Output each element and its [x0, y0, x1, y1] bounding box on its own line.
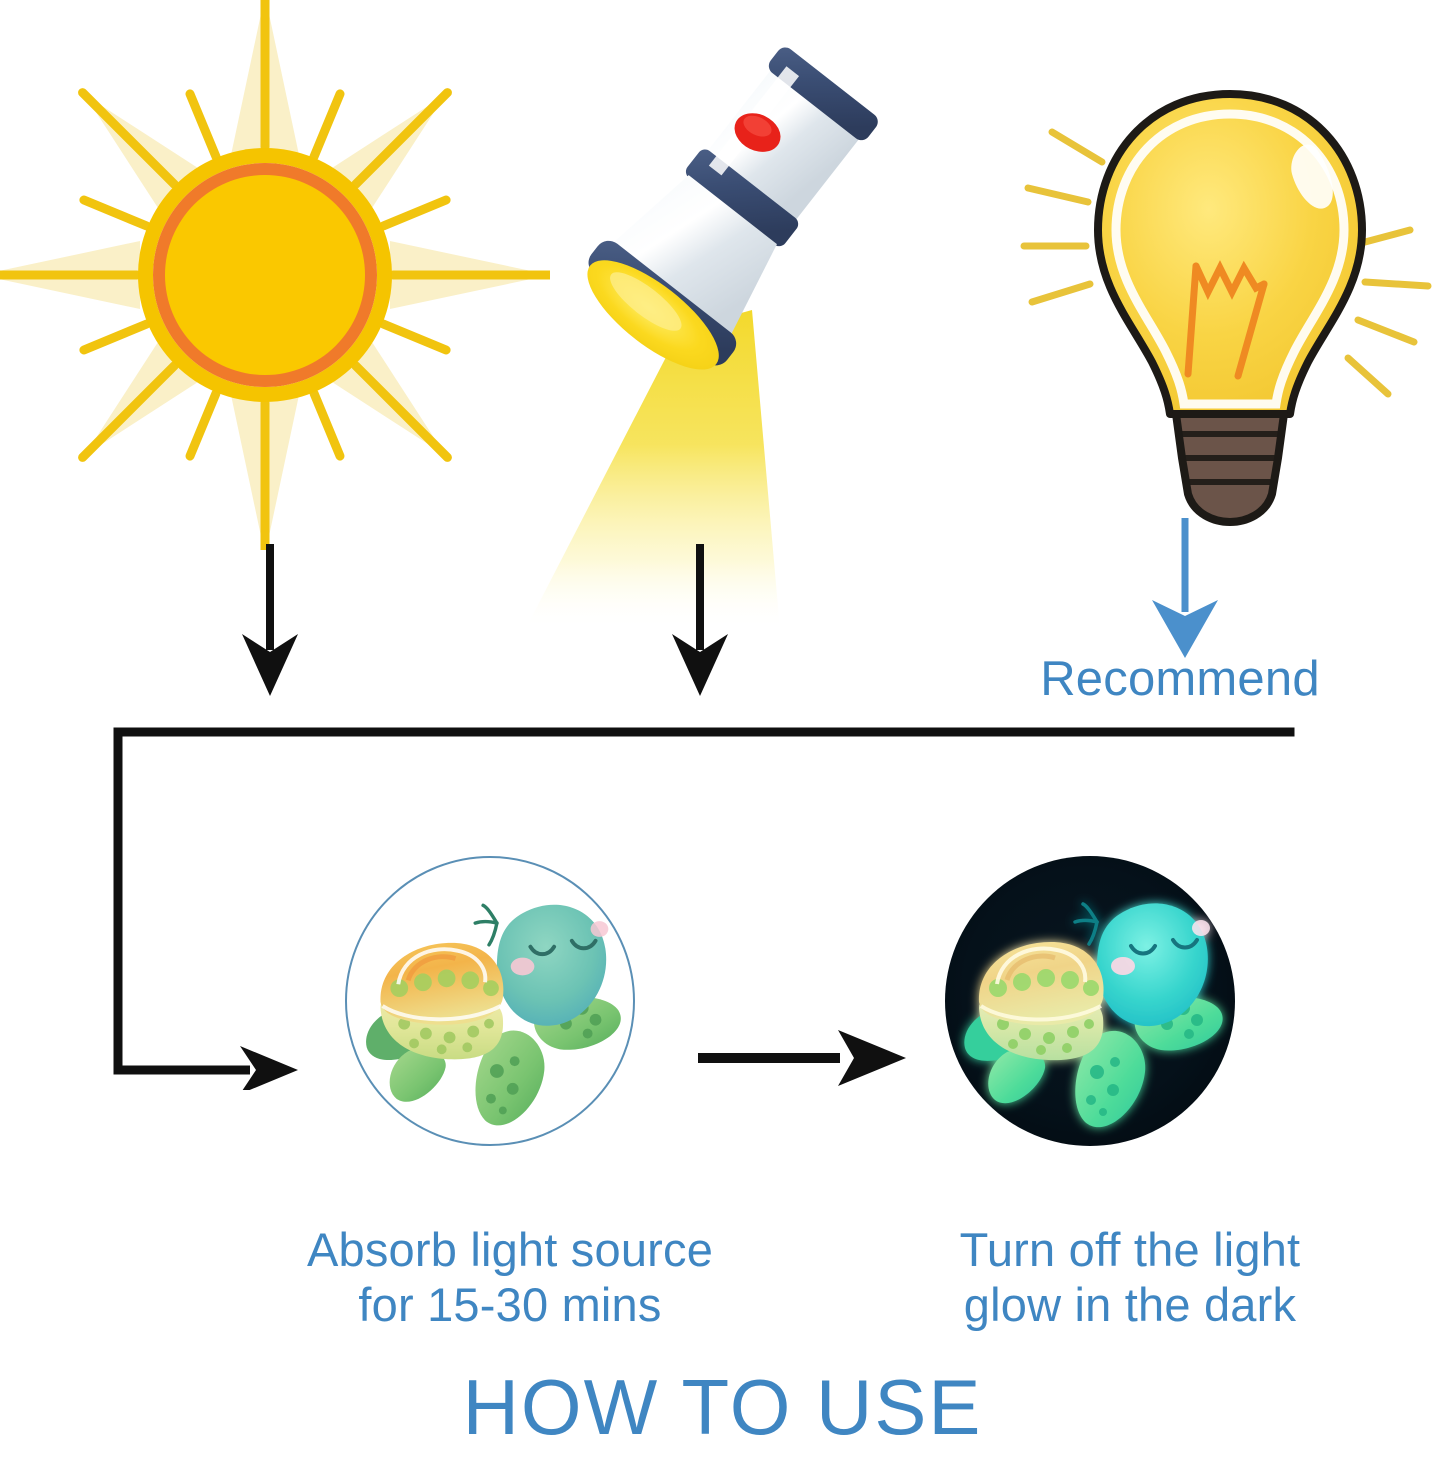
light-bulb-icon	[1010, 70, 1445, 530]
watercolor-turtle-glowing	[945, 856, 1235, 1146]
watercolor-turtle-lit	[347, 858, 633, 1144]
turtle-dark-circle	[945, 856, 1235, 1146]
sun-icon	[0, 0, 550, 550]
flashlight-down-arrow-icon	[660, 540, 740, 700]
step-right-arrow-icon	[690, 1018, 930, 1098]
infographic-canvas: Recommend Absorb light source for 15-30 …	[0, 0, 1445, 1457]
turtle-light-circle	[345, 856, 635, 1146]
page-title: HOW TO USE	[0, 1368, 1445, 1446]
sun-down-arrow-icon	[230, 540, 310, 700]
glow-caption: Turn off the light glow in the dark	[860, 1222, 1400, 1333]
absorb-caption: Absorb light source for 15-30 mins	[200, 1222, 820, 1333]
bulb-down-arrow-icon	[1140, 512, 1230, 662]
flashlight-icon	[480, 10, 1000, 630]
recommend-label: Recommend	[980, 652, 1380, 707]
